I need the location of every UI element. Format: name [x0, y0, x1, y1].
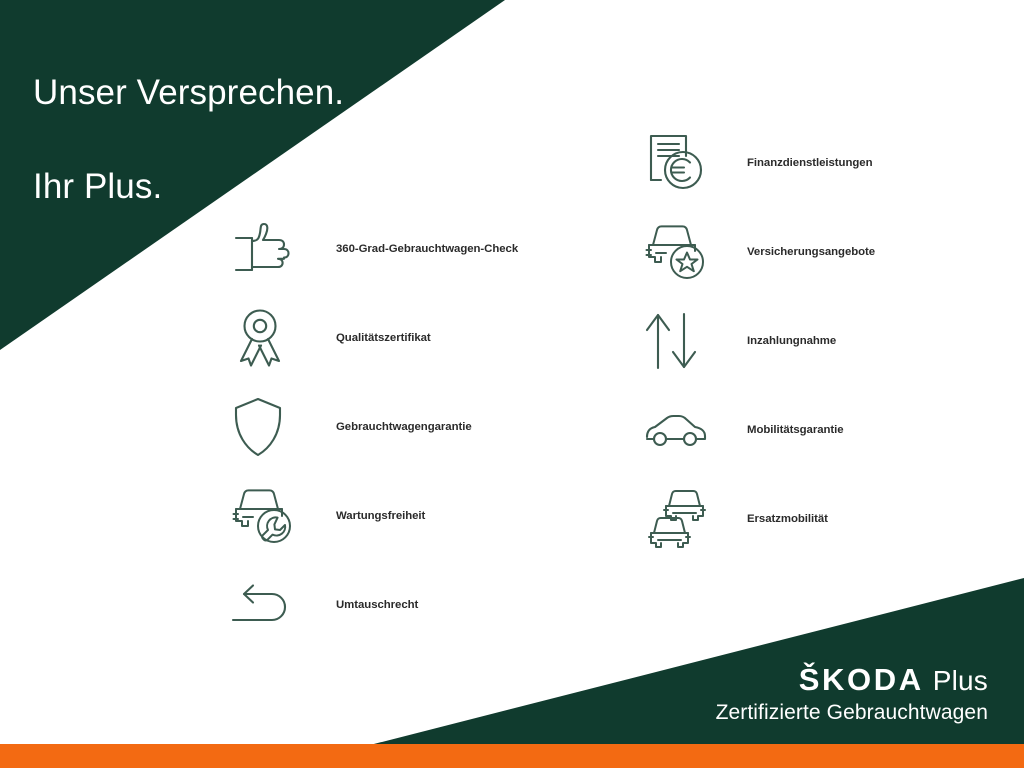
- skoda-plus-logo: ŠKODA Plus Zertifizierte Gebrauchtwagen: [716, 664, 988, 724]
- feature-item: Wartungsfreiheit: [232, 471, 518, 560]
- feature-item: 360-Grad-Gebrauchtwagen-Check: [232, 204, 518, 293]
- feature-label: Inzahlungnahme: [747, 335, 836, 347]
- car-star-icon: [645, 221, 713, 283]
- plus-wordmark: Plus: [933, 667, 988, 695]
- feature-item: Ersatzmobilität: [645, 474, 875, 563]
- feature-item: Qualitätszertifikat: [232, 293, 518, 382]
- document-euro-icon: [645, 132, 713, 194]
- feature-item: Mobilitätsgarantie: [645, 385, 875, 474]
- feature-label: Umtauschrecht: [336, 599, 418, 611]
- car-wrench-icon: [232, 485, 300, 547]
- orange-bottom-bar: [0, 744, 1024, 768]
- award-rosette-icon: [232, 307, 300, 369]
- thumbs-up-icon: [232, 218, 300, 280]
- shield-icon: [232, 396, 300, 458]
- feature-label: Versicherungsangebote: [747, 246, 875, 258]
- feature-item: Inzahlungnahme: [645, 296, 875, 385]
- return-arrow-icon: [232, 574, 300, 636]
- up-down-arrows-icon: [645, 310, 713, 372]
- feature-label: Gebrauchtwagengarantie: [336, 421, 472, 433]
- feature-column-left: 360-Grad-Gebrauchtwagen-Check Qualitätsz…: [232, 204, 518, 649]
- skoda-wordmark: ŠKODA: [799, 664, 924, 695]
- feature-label: Wartungsfreiheit: [336, 510, 425, 522]
- feature-label: Finanzdienstleistungen: [747, 157, 872, 169]
- logo-tagline: Zertifizierte Gebrauchtwagen: [716, 702, 988, 724]
- feature-item: Versicherungsangebote: [645, 207, 875, 296]
- feature-column-right: Finanzdienstleistungen Versicherungsange…: [645, 118, 875, 563]
- feature-item: Umtauschrecht: [232, 560, 518, 649]
- feature-item: Finanzdienstleistungen: [645, 118, 875, 207]
- feature-label: Ersatzmobilität: [747, 513, 828, 525]
- car-side-icon: [645, 399, 713, 461]
- feature-label: 360-Grad-Gebrauchtwagen-Check: [336, 243, 518, 255]
- promo-banner: Unser Versprechen. Ihr Plus. 360-Grad-Ge…: [0, 0, 1024, 768]
- feature-item: Gebrauchtwagengarantie: [232, 382, 518, 471]
- headline-line-2: Ihr Plus.: [33, 163, 344, 210]
- logo-primary-line: ŠKODA Plus: [716, 664, 988, 695]
- two-cars-icon: [645, 488, 713, 550]
- feature-label: Qualitätszertifikat: [336, 332, 431, 344]
- feature-label: Mobilitätsgarantie: [747, 424, 844, 436]
- headline-line-1: Unser Versprechen.: [33, 69, 344, 116]
